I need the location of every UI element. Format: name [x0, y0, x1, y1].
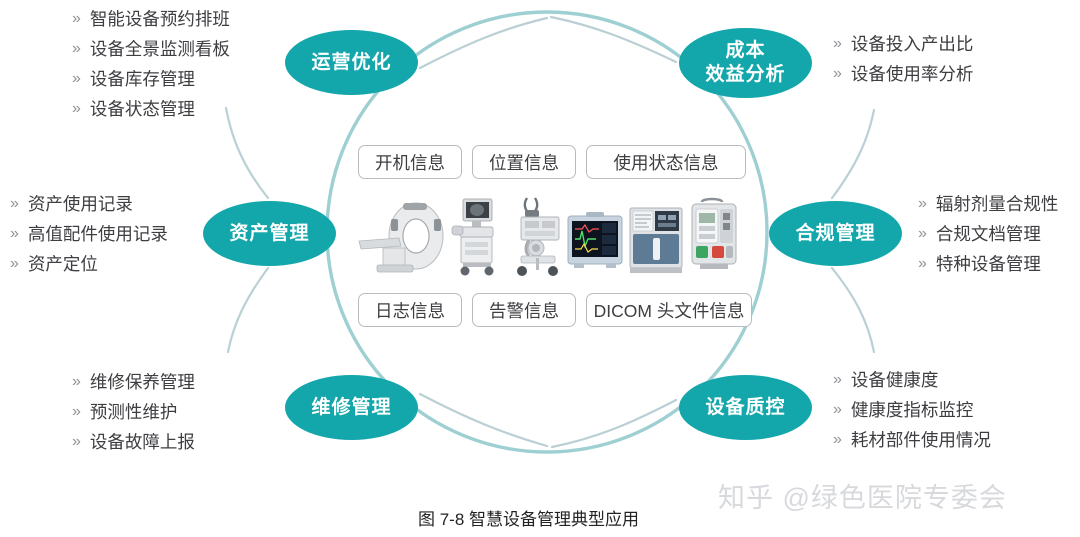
list-cost: » 设备投入产出比 » 设备使用率分析 [833, 34, 973, 85]
node-asset-label: 资产管理 [229, 222, 309, 246]
bullet-icon: » [918, 254, 927, 273]
node-asset[interactable]: 资产管理 [203, 201, 336, 266]
infusion-pump-icon [688, 196, 740, 278]
node-compliance-label: 合规管理 [795, 222, 875, 246]
list-item-label: 维修保养管理 [90, 372, 195, 393]
list-item-label: 耗材部件使用情况 [851, 430, 991, 451]
diagram-canvas: 运营优化 成本 效益分析 资产管理 合规管理 维修管理 设备质控 » 智能设备预… [0, 0, 1080, 537]
list-item: » 维修保养管理 [72, 372, 195, 393]
node-quality[interactable]: 设备质控 [679, 375, 812, 440]
bullet-icon: » [833, 400, 842, 419]
list-item-label: 资产定位 [28, 254, 98, 275]
list-item: » 健康度指标监控 [833, 400, 991, 421]
node-operations[interactable]: 运营优化 [285, 30, 418, 95]
list-item-label: 预测性维护 [90, 402, 178, 423]
patient-monitor-icon [566, 196, 624, 278]
infobox-usage-status-info[interactable]: 使用状态信息 [586, 145, 746, 179]
infobox-label: 使用状态信息 [614, 150, 719, 175]
list-item: » 设备库存管理 [72, 69, 230, 90]
list-item: » 资产使用记录 [10, 194, 168, 215]
connector-asset-lower [228, 268, 268, 352]
figure-caption: 图 7-8 智慧设备管理典型应用 [418, 505, 639, 530]
list-item: » 合规文档管理 [918, 224, 1058, 245]
bullet-icon: » [72, 99, 81, 118]
list-asset: » 资产使用记录 » 高值配件使用记录 » 资产定位 [10, 194, 168, 275]
bullet-icon: » [918, 224, 927, 243]
list-item: » 耗材部件使用情况 [833, 430, 991, 451]
infobox-label: 开机信息 [375, 150, 445, 175]
list-item-label: 设备健康度 [851, 370, 939, 391]
node-compliance[interactable]: 合规管理 [769, 201, 902, 266]
list-item: » 设备状态管理 [72, 99, 230, 120]
infobox-label: DICOM 头文件信息 [594, 298, 745, 323]
connector-compliance-lower [832, 268, 874, 352]
list-item: » 设备故障上报 [72, 432, 195, 453]
bullet-icon: » [10, 194, 19, 213]
list-item: » 辐射剂量合规性 [918, 194, 1058, 215]
connector-compliance [832, 110, 874, 198]
list-item-label: 高值配件使用记录 [28, 224, 168, 245]
infobox-label: 日志信息 [375, 298, 445, 323]
node-operations-label: 运营优化 [311, 51, 391, 75]
node-maintenance[interactable]: 维修管理 [285, 375, 418, 440]
list-compliance: » 辐射剂量合规性 » 合规文档管理 » 特种设备管理 [918, 194, 1058, 275]
medical-devices-strip [355, 196, 740, 278]
list-item-label: 辐射剂量合规性 [936, 194, 1059, 215]
list-item-label: 健康度指标监控 [851, 400, 974, 421]
list-item-label: 设备投入产出比 [851, 34, 974, 55]
list-item: » 设备健康度 [833, 370, 991, 391]
bullet-icon: » [72, 372, 81, 391]
list-maintenance: » 维修保养管理 » 预测性维护 » 设备故障上报 [72, 372, 195, 453]
list-operations: » 智能设备预约排班 » 设备全景监测看板 » 设备库存管理 » 设备状态管理 [72, 9, 230, 120]
bullet-icon: » [918, 194, 927, 213]
infobox-label: 位置信息 [489, 150, 559, 175]
connector-operations [420, 18, 547, 68]
bullet-icon: » [72, 69, 81, 88]
list-item: » 资产定位 [10, 254, 168, 275]
infobox-dicom-header-info[interactable]: DICOM 头文件信息 [586, 293, 752, 327]
node-maintenance-label: 维修管理 [311, 396, 391, 420]
node-cost-label-line2: 效益分析 [705, 63, 785, 87]
bullet-icon: » [72, 9, 81, 28]
watermark: 知乎 @绿色医院专委会 [718, 476, 1007, 515]
list-item-label: 特种设备管理 [936, 254, 1041, 275]
bullet-icon: » [10, 254, 19, 273]
bullet-icon: » [72, 432, 81, 451]
node-cost[interactable]: 成本 效益分析 [679, 28, 812, 98]
list-item: » 高值配件使用记录 [10, 224, 168, 245]
list-item-label: 合规文档管理 [936, 224, 1041, 245]
bullet-icon: » [833, 64, 842, 83]
infobox-alarm-info[interactable]: 告警信息 [472, 293, 576, 327]
bullet-icon: » [833, 430, 842, 449]
list-item: » 设备全景监测看板 [72, 39, 230, 60]
node-quality-label: 设备质控 [705, 396, 785, 420]
list-item: » 设备使用率分析 [833, 64, 973, 85]
infobox-location-info[interactable]: 位置信息 [472, 145, 576, 179]
list-item-label: 设备全景监测看板 [90, 39, 230, 60]
list-item-label: 资产使用记录 [28, 194, 133, 215]
bullet-icon: » [833, 34, 842, 53]
bullet-icon: » [72, 402, 81, 421]
list-item-label: 设备故障上报 [90, 432, 195, 453]
list-item: » 智能设备预约排班 [72, 9, 230, 30]
analyzer-icon [627, 196, 685, 278]
list-item-label: 设备使用率分析 [851, 64, 974, 85]
bullet-icon: » [72, 39, 81, 58]
list-item-label: 设备库存管理 [90, 69, 195, 90]
infobox-boot-info[interactable]: 开机信息 [358, 145, 462, 179]
connector-asset [226, 108, 268, 198]
ct-scanner-icon [355, 196, 447, 278]
node-cost-label-line1: 成本 [725, 39, 765, 63]
list-quality: » 设备健康度 » 健康度指标监控 » 耗材部件使用情况 [833, 370, 991, 451]
list-item: » 设备投入产出比 [833, 34, 973, 55]
connector-maintenance [420, 394, 547, 446]
bullet-icon: » [10, 224, 19, 243]
list-item: » 预测性维护 [72, 402, 195, 423]
infobox-log-info[interactable]: 日志信息 [358, 293, 462, 327]
anesthesia-machine-icon [505, 196, 563, 278]
list-item-label: 设备状态管理 [90, 99, 195, 120]
list-item: » 特种设备管理 [918, 254, 1058, 275]
list-item-label: 智能设备预约排班 [90, 9, 230, 30]
bullet-icon: » [833, 370, 842, 389]
ultrasound-cart-icon [450, 196, 502, 278]
infobox-label: 告警信息 [489, 298, 559, 323]
